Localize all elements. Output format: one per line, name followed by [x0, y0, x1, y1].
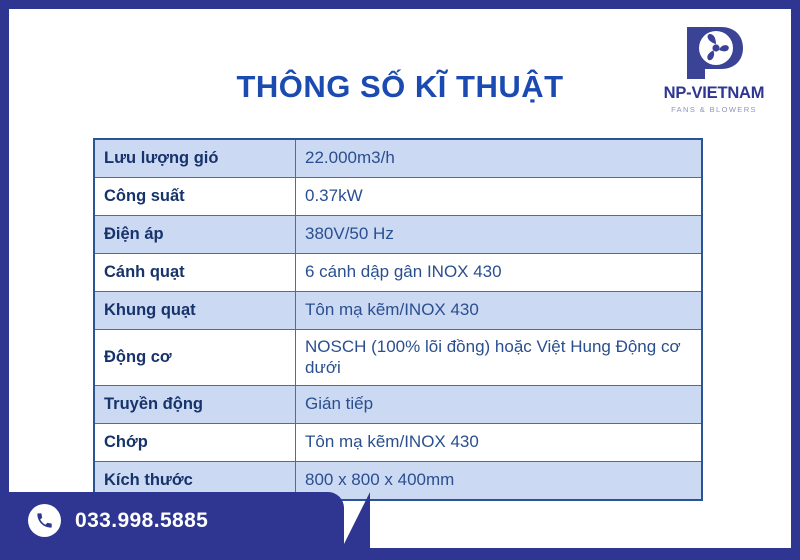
spec-key: Lưu lượng gió	[94, 139, 296, 178]
phone-handset-icon	[28, 504, 61, 537]
spec-value: Tôn mạ kẽm/INOX 430	[296, 424, 703, 462]
table-row: Cánh quạt 6 cánh dập gân INOX 430	[94, 254, 702, 292]
spec-key: Động cơ	[94, 330, 296, 386]
brand-logo: NP-VIETNAM FANS & BLOWERS	[649, 25, 779, 113]
frame-border-left	[0, 0, 9, 560]
spec-value: 0.37kW	[296, 178, 703, 216]
spec-value: Tôn mạ kẽm/INOX 430	[296, 292, 703, 330]
table-row: Công suất 0.37kW	[94, 178, 702, 216]
spec-value: 22.000m3/h	[296, 139, 703, 178]
specification-table: Lưu lượng gió 22.000m3/h Công suất 0.37k…	[93, 138, 703, 501]
contact-phone-banner[interactable]: 033.998.5885	[9, 492, 344, 548]
table-row: Khung quạt Tôn mạ kẽm/INOX 430	[94, 292, 702, 330]
brand-tagline: FANS & BLOWERS	[649, 106, 779, 114]
spec-value: NOSCH (100% lõi đồng) hoặc Việt Hung Độn…	[296, 330, 703, 386]
spec-value: 380V/50 Hz	[296, 216, 703, 254]
frame-border-top	[0, 0, 800, 9]
table-row: Lưu lượng gió 22.000m3/h	[94, 139, 702, 178]
specification-table-body: Lưu lượng gió 22.000m3/h Công suất 0.37k…	[94, 139, 702, 500]
frame-border-bottom	[0, 548, 800, 560]
spec-key: Cánh quạt	[94, 254, 296, 292]
table-row: Chớp Tôn mạ kẽm/INOX 430	[94, 424, 702, 462]
table-row: Điện áp 380V/50 Hz	[94, 216, 702, 254]
fan-blower-logo-icon	[649, 25, 779, 81]
poster-canvas: THÔNG SỐ KĨ THUẬT NP-VIETNA	[0, 0, 800, 560]
phone-number-text: 033.998.5885	[75, 510, 208, 531]
spec-key: Điện áp	[94, 216, 296, 254]
spec-value: Gián tiếp	[296, 386, 703, 424]
spec-value: 6 cánh dập gân INOX 430	[296, 254, 703, 292]
spec-key: Chớp	[94, 424, 296, 462]
frame-border-right	[791, 0, 800, 560]
spec-key: Khung quạt	[94, 292, 296, 330]
table-row: Động cơ NOSCH (100% lõi đồng) hoặc Việt …	[94, 330, 702, 386]
spec-key: Truyền động	[94, 386, 296, 424]
header: THÔNG SỐ KĨ THUẬT NP-VIETNA	[9, 9, 791, 129]
brand-name: NP-VIETNAM	[649, 85, 779, 102]
spec-key: Công suất	[94, 178, 296, 216]
table-row: Truyền động Gián tiếp	[94, 386, 702, 424]
